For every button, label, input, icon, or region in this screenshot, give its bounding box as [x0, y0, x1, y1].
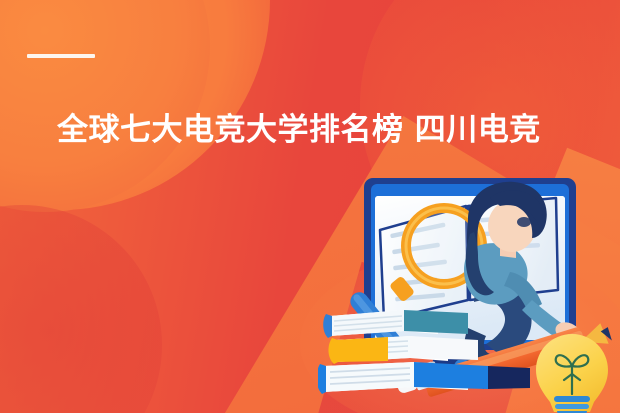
study-research-illustration	[318, 168, 620, 413]
promo-banner: 全球七大电竞大学排名榜 四川电竞	[0, 0, 620, 413]
page-title: 全球七大电竞大学排名榜 四川电竞	[57, 110, 577, 150]
accent-rule	[27, 54, 95, 58]
light-bulb	[536, 334, 608, 413]
